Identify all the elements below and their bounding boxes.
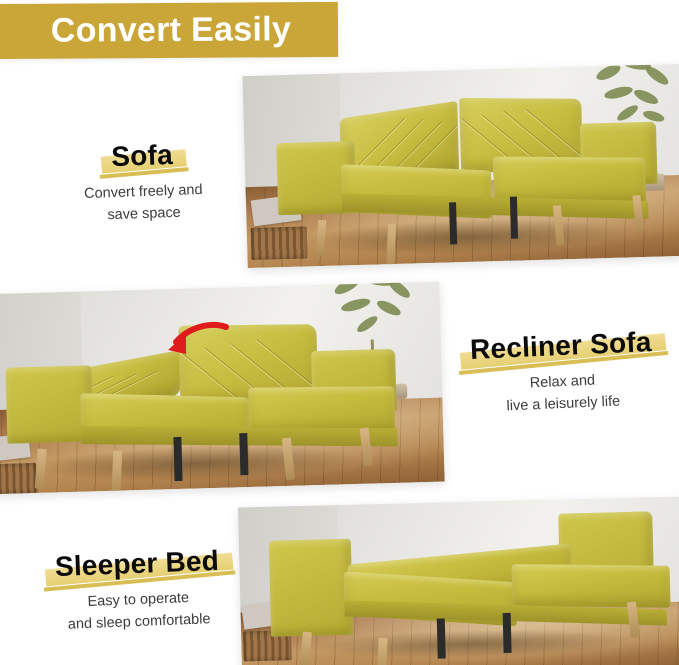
scene-sofa-upright xyxy=(242,64,679,268)
infographic-canvas: Convert Easily Sofa Convert freely and s… xyxy=(0,0,679,665)
bed-leg-rear-center xyxy=(437,618,446,658)
sofa-leg-rear-center xyxy=(449,202,457,244)
recline-arrow xyxy=(160,320,230,366)
photo-panel-recliner xyxy=(0,282,445,495)
scene-sofa-reclined xyxy=(0,282,445,495)
basket-weave xyxy=(251,226,308,260)
sofa-leg-front-mid xyxy=(111,451,122,495)
scene-sleeper-bed xyxy=(238,497,679,665)
curved-arrow-icon xyxy=(160,320,230,366)
heading-wrap-sofa: Sofa xyxy=(111,139,174,173)
feature-subtitle-recliner: Relax and live a leisurely life xyxy=(462,368,664,420)
feature-subtitle-sleeper: Easy to operate and sleep comfortable xyxy=(38,586,240,637)
heading-wrap-sleeper: Sleeper Bed xyxy=(54,545,219,583)
sofa-leg-rear-right xyxy=(510,197,518,239)
caption-block-recliner: Recliner Sofa Relax and live a leisurely… xyxy=(460,326,664,420)
feature-heading-sleeper: Sleeper Bed xyxy=(54,545,219,583)
photo-panel-sofa xyxy=(242,64,679,268)
caption-block-sofa: Sofa Convert freely and save space xyxy=(47,137,240,229)
sofa-leg-rear-center xyxy=(173,437,182,481)
caption-block-sleeper: Sleeper Bed Easy to operate and sleep co… xyxy=(36,544,239,637)
heading-wrap-recliner: Recliner Sofa xyxy=(469,326,652,366)
feature-heading-sofa: Sofa xyxy=(111,139,174,173)
feature-heading-recliner: Recliner Sofa xyxy=(469,326,652,366)
photo-panel-sleeper xyxy=(238,497,679,665)
basket-weave xyxy=(0,463,37,495)
bed-headboard-left xyxy=(269,539,353,637)
bed-leg-front-mid xyxy=(377,638,388,665)
magazine-basket xyxy=(0,435,37,494)
page-title: Convert Easily xyxy=(33,10,292,51)
bed-leg-rear-right xyxy=(503,613,512,653)
feature-subtitle-sofa: Convert freely and save space xyxy=(48,179,239,229)
sofa-leg-rear-right xyxy=(239,433,248,475)
bed-mattress-near-right xyxy=(511,564,670,608)
title-banner: Convert Easily xyxy=(0,2,338,59)
